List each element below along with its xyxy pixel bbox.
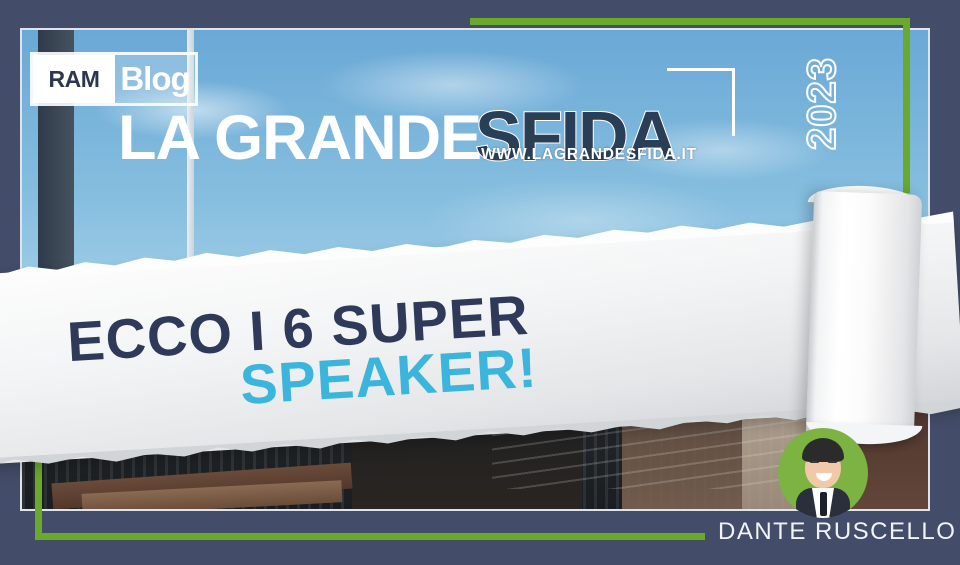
avatar-eye-right <box>828 461 837 465</box>
green-bracket-top <box>470 18 910 25</box>
avatar-tie <box>820 492 827 516</box>
paper-curl <box>806 191 922 440</box>
ram-blog-logo[interactable]: RAM Blog <box>30 52 198 106</box>
title-sfida-group: SFIDA WWW.LAGRANDESFIDA.IT <box>475 104 675 168</box>
avatar-eye-left <box>810 461 819 465</box>
year-label: 2023 <box>800 60 846 150</box>
author-name: DANTE RUSCELLO <box>718 518 956 546</box>
title-la-grande: LA GRANDE <box>118 109 481 169</box>
website-url: WWW.LAGRANDESFIDA.IT <box>481 146 697 164</box>
green-bracket-bottom <box>35 533 705 540</box>
event-title: LA GRANDE SFIDA WWW.LAGRANDESFIDA.IT <box>118 104 675 168</box>
logo-blog-text: Blog <box>115 55 195 103</box>
banner-canvas: RAM Blog LA GRANDE SFIDA WWW.LAGRANDESFI… <box>0 0 960 565</box>
avatar-hair <box>802 438 844 462</box>
green-bracket-right <box>903 18 910 193</box>
logo-ram-text: RAM <box>33 55 115 103</box>
avatar <box>778 428 868 518</box>
corner-bracket-icon <box>667 68 735 136</box>
